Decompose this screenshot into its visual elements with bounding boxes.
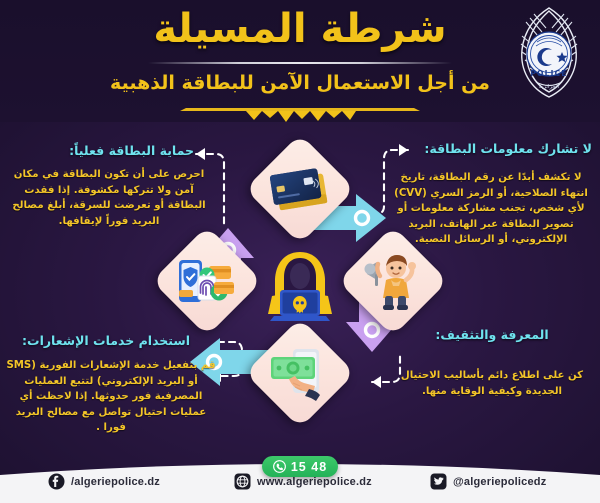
infographic-poster: شرطة المسيلة من أجل الاستعمال الآمن للبط… (0, 0, 600, 503)
section-body: كن على اطلاع دائم بأساليب الاحتيال الجدي… (390, 368, 594, 399)
footer-link-twitter[interactable]: @algeriepolicedz (430, 473, 546, 490)
gold-zigzag-divider (150, 104, 450, 124)
twitter-icon (430, 473, 447, 490)
section-body: قم بتفعيل خدمة الإشعارات الفورية (SMS أو… (6, 358, 216, 436)
phone-number: 15 48 (291, 460, 327, 474)
diamond-phone-security[interactable] (152, 226, 262, 336)
title-divider (148, 62, 452, 64)
section-heading: استخدام خدمات الإشعارات: (6, 333, 216, 348)
svg-text:POLICE: POLICE (530, 69, 567, 78)
section-protect-card: حماية البطاقة فعلياً: احرص على أن تكون ا… (6, 143, 212, 229)
diamond-mobile-payment[interactable] (245, 318, 355, 428)
poster-header: شرطة المسيلة من أجل الاستعمال الآمن للبط… (0, 0, 600, 122)
emergency-phone-badge[interactable]: 15 48 (262, 456, 338, 477)
hacker-with-laptop-icon (262, 246, 338, 322)
section-heading: المعرفة والتثقيف: (390, 327, 594, 342)
section-body: لا تكشف أبدًا عن رقم البطاقة، تاريخ انته… (386, 170, 596, 248)
phone-icon (273, 460, 286, 473)
section-notifications: استخدام خدمات الإشعارات: قم بتفعيل خدمة … (6, 333, 216, 436)
footer-link-label: @algeriepolicedz (453, 476, 546, 488)
section-heading: حماية البطاقة فعلياً: (6, 143, 212, 158)
section-knowledge: المعرفة والتثقيف: كن على اطلاع دائم بأسا… (390, 327, 594, 399)
website-icon (234, 473, 251, 490)
svg-text:الجزائرية: الجزائرية (539, 84, 560, 90)
boy-with-megaphone-icon (354, 242, 432, 320)
section-body: احرص على أن تكون البطاقة في مكان آمن ولا… (6, 167, 212, 229)
diamond-credit-card[interactable] (245, 134, 355, 244)
mobile-cash-payment-icon (261, 334, 339, 412)
facebook-icon (48, 473, 65, 490)
section-heading: لا تشارك معلومات البطاقة: (386, 141, 596, 156)
footer-link-label: www.algeriepolice.dz (257, 476, 372, 488)
police-badge-icon: POLICE الجزائرية (506, 2, 592, 106)
phone-security-fingerprint-icon (168, 242, 246, 320)
credit-card-icon (261, 150, 339, 228)
footer-link-facebook[interactable]: /algeriepolice.dz (48, 473, 160, 490)
section-do-not-share: لا تشارك معلومات البطاقة: لا تكشف أبدًا … (386, 141, 596, 248)
footer-link-label: /algeriepolice.dz (71, 476, 160, 488)
